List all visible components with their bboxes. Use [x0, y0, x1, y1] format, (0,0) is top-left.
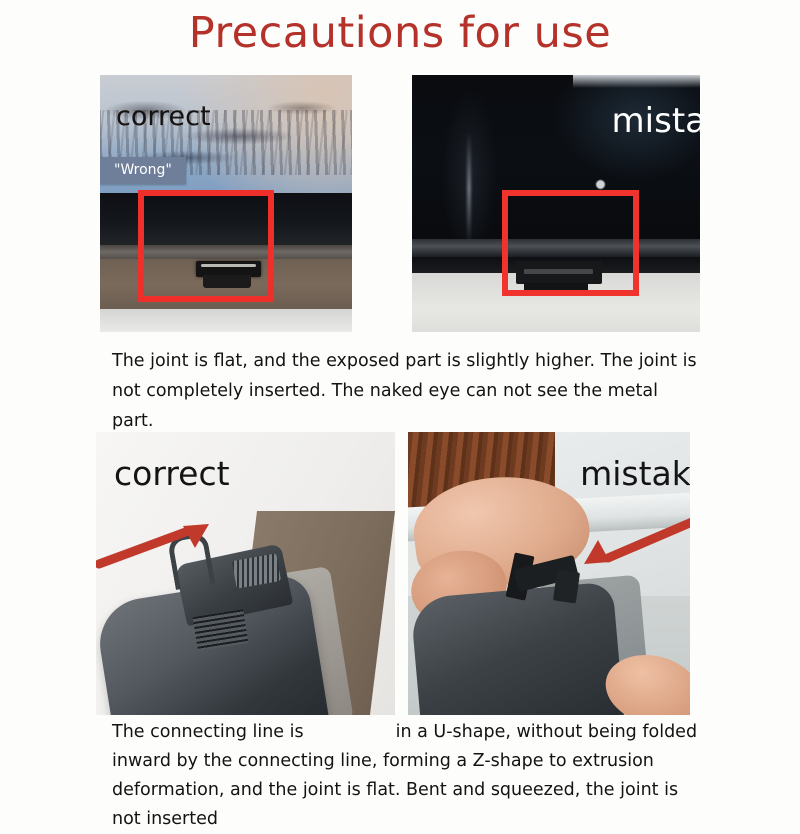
photo-top-sheen [573, 75, 700, 88]
highlight-box [502, 190, 639, 296]
panel-label-correct: correct [116, 101, 211, 132]
pointer-arrow-left-icon [580, 514, 690, 570]
pointer-arrow-right-icon [96, 520, 213, 572]
caption-bottom: The connecting line isin a U-shape, with… [112, 718, 712, 834]
floor-surface [100, 309, 352, 332]
phone-body [410, 582, 625, 715]
wrong-badge: "Wrong" [100, 157, 186, 184]
caption-top: The joint is flat, and the exposed part … [112, 346, 702, 436]
photo-panel-mistake-bottom: mistake [408, 432, 690, 715]
photo-glint [467, 132, 471, 245]
photo-panel-mistake-top: mista [412, 75, 700, 332]
panel-label-mistake: mista [612, 101, 700, 141]
page-title: Precautions for use [0, 8, 800, 58]
panel-label-correct: correct [114, 454, 230, 493]
photo-panel-correct-top: correct "Wrong" [100, 75, 352, 332]
photo-panel-correct-bottom: correct [96, 432, 395, 715]
highlight-box [138, 190, 274, 302]
panel-label-mistake: mistake [580, 454, 690, 493]
caption-bottom-part1: The connecting line is [112, 722, 304, 742]
cable-bent-segment [553, 569, 580, 603]
